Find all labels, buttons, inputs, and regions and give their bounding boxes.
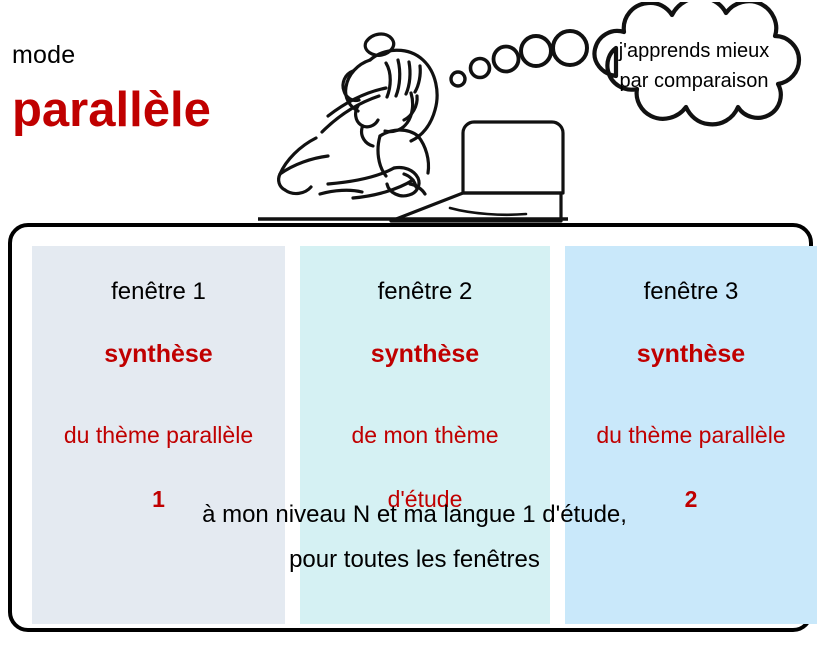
windows-container: fenêtre 1 synthèse du thème parallèle 1 … (8, 223, 813, 632)
thought-dot-3 (494, 47, 519, 72)
panel-2-sub-emph: d'étude (388, 486, 463, 512)
thought-dot-1 (451, 72, 465, 86)
panel-1-title: fenêtre 1 (18, 278, 299, 306)
panel-1-synthese: synthèse (18, 340, 299, 369)
panel-3-sub-emph: 2 (685, 486, 698, 512)
panel-2-subtitle: de mon thème d'étude (284, 387, 566, 515)
panel-1-sub-emph: 1 (152, 486, 165, 512)
thought-dot-4 (521, 36, 551, 66)
panel-2-sub-line: de mon thème (351, 422, 498, 448)
panel-2-title: fenêtre 2 (286, 278, 564, 306)
thought-bubble-text: j'apprends mieux par comparaison (604, 36, 784, 96)
panel-3-subtitle: du thème parallèle 2 (549, 387, 829, 515)
panel-1-subtitle: du thème parallèle 1 (16, 387, 301, 515)
panel-3-title: fenêtre 3 (551, 278, 829, 306)
panel-3-sub-line: du thème parallèle (596, 422, 785, 448)
panel-2-synthese: synthèse (286, 340, 564, 369)
panel-3-synthese: synthèse (551, 340, 829, 369)
mode-label: mode (12, 41, 75, 70)
window-panel-3[interactable]: fenêtre 3 synthèse du thème parallèle 2 (565, 246, 817, 624)
header-area: mode parallèle (0, 0, 829, 223)
page-title: parallèle (12, 82, 211, 138)
thought-dot-2 (471, 59, 490, 78)
window-panel-2[interactable]: fenêtre 2 synthèse de mon thème d'étude (300, 246, 550, 624)
panel-1-sub-line: du thème parallèle (64, 422, 253, 448)
window-panel-1[interactable]: fenêtre 1 synthèse du thème parallèle 1 (32, 246, 285, 624)
